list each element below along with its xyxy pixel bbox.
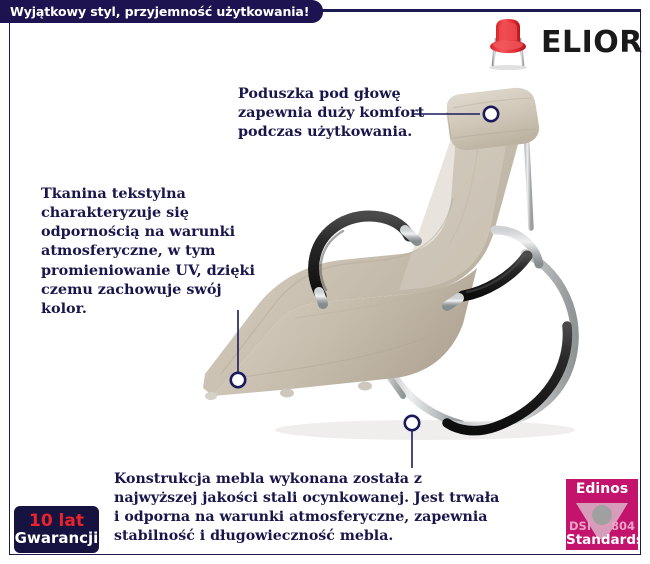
warranty-label: Gwarancji [15, 531, 99, 547]
warranty-years: 10 lat [29, 513, 84, 531]
certification-badge-edinos: Edinos DSI 804 Standards [566, 479, 638, 550]
edinos-title: Edinos [566, 481, 638, 497]
product-infographic: Wyjątkowy styl, przyjemność użytkowania! [0, 0, 650, 564]
edinos-standard-number: 804 [611, 519, 635, 533]
edinos-subtitle: Standards [566, 532, 638, 548]
edinos-standard-prefix: DSI [569, 519, 591, 533]
headline-text: Wyjątkowy styl, przyjemność użytkowania! [10, 4, 309, 19]
callout-leader-lines [0, 0, 650, 564]
callout-marker-pillow [484, 107, 498, 121]
headline-banner: Wyjątkowy styl, przyjemność użytkowania! [0, 0, 323, 23]
callout-marker-fabric [231, 373, 245, 387]
callout-marker-frame [405, 416, 419, 430]
warranty-badge: 10 lat Gwarancji [14, 506, 99, 553]
